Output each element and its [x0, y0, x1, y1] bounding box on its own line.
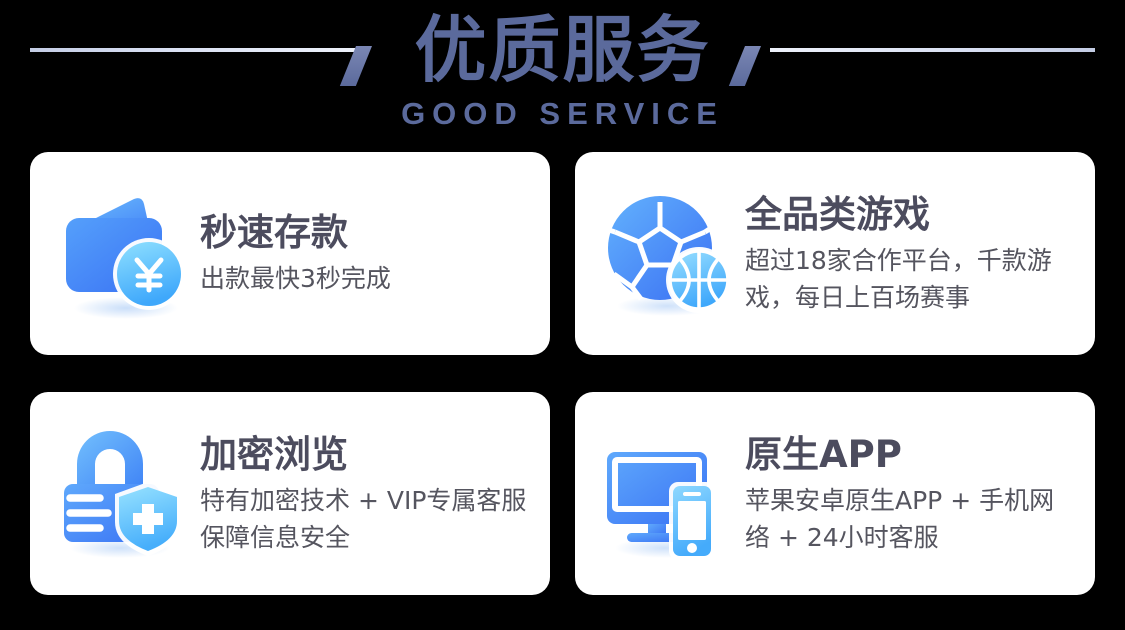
section-header: 优质服务 GOOD SERVICE	[0, 0, 1125, 145]
feature-card[interactable]: 原生APP 苹果安卓原生APP + 手机网络 + 24小时客服	[575, 392, 1095, 595]
feature-card[interactable]: 加密浏览 特有加密技术 + VIP专属客服保障信息安全	[30, 392, 550, 595]
feature-card[interactable]: 秒速存款 出款最快3秒完成	[30, 152, 550, 355]
feature-card-text: 加密浏览 特有加密技术 + VIP专属客服保障信息安全	[192, 432, 528, 556]
feature-card-desc: 苹果安卓原生APP + 手机网络 + 24小时客服	[745, 482, 1073, 556]
feature-card-text: 全品类游戏 超过18家合作平台，千款游戏，每日上百场赛事	[737, 192, 1073, 316]
feature-card-grid: 秒速存款 出款最快3秒完成	[30, 152, 1095, 595]
feature-card-title: 秒速存款	[200, 210, 528, 256]
page-subtitle: GOOD SERVICE	[0, 96, 1125, 132]
page-title: 优质服务	[0, 10, 1125, 90]
feature-card-desc: 特有加密技术 + VIP专属客服保障信息安全	[200, 482, 528, 556]
wallet-yen-icon	[56, 186, 192, 322]
feature-card-title: 原生APP	[745, 432, 1073, 478]
feature-card-desc: 出款最快3秒完成	[200, 260, 528, 297]
feature-card-desc: 超过18家合作平台，千款游戏，每日上百场赛事	[745, 242, 1073, 316]
feature-card-text: 原生APP 苹果安卓原生APP + 手机网络 + 24小时客服	[737, 432, 1073, 556]
soccer-basketball-icon	[601, 186, 737, 322]
feature-card-text: 秒速存款 出款最快3秒完成	[192, 210, 528, 297]
lock-shield-icon	[56, 426, 192, 562]
good-service-panel: 优质服务 GOOD SERVICE	[0, 0, 1125, 630]
feature-card-title: 全品类游戏	[745, 192, 1073, 238]
feature-card[interactable]: 全品类游戏 超过18家合作平台，千款游戏，每日上百场赛事	[575, 152, 1095, 355]
feature-card-title: 加密浏览	[200, 432, 528, 478]
monitor-phone-icon	[601, 426, 737, 562]
